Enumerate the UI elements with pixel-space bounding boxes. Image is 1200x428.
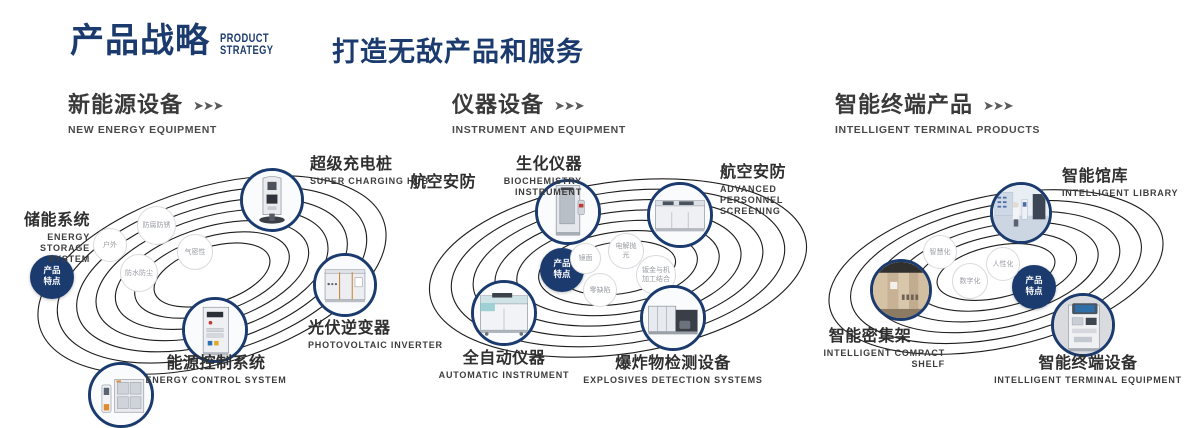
- page-subtitle: 打造无敌产品和服务: [332, 30, 584, 69]
- chevron-right-icon: ➤➤➤: [193, 98, 223, 114]
- node-intelligent-compact-shelf[interactable]: [870, 259, 932, 321]
- section-title-intelligent-terminal: 智能终端产品 ➤➤➤ INTELLIGENT TERMINAL PRODUCTS: [835, 95, 1040, 136]
- node-advanced-personnel-screening[interactable]: [647, 182, 713, 248]
- explosives-detection-image: [643, 288, 703, 348]
- feature-bubble: 户外: [93, 228, 127, 262]
- node-explosives-detection[interactable]: [640, 285, 706, 351]
- feature-bubble: 防腐防锈: [137, 206, 176, 245]
- node-automatic-instrument[interactable]: [471, 280, 537, 346]
- feature-bubble: 镜面: [570, 243, 601, 274]
- intelligent-terminal-equipment-image: [1054, 296, 1112, 354]
- feature-bubble: 人性化: [986, 247, 1020, 281]
- chevron-right-icon: ➤➤➤: [554, 98, 584, 114]
- page-title-en: PRODUCT STRATEGY: [220, 32, 273, 56]
- feature-bubble: 防水防尘: [120, 254, 158, 292]
- product-strategy-infographic: 产品战略 PRODUCT STRATEGY 打造无敌产品和服务 新能源设备 ➤➤…: [0, 0, 1200, 422]
- diagram-group-intelligent-terminal: 产品 特点 智慧化 数字化 人性化: [790, 150, 1200, 400]
- node-intelligent-library[interactable]: [990, 182, 1052, 244]
- caption-intelligent-library: 智能馆库 INTELLIGENT LIBRARY: [1062, 168, 1178, 199]
- section-title-en: INTELLIGENT TERMINAL PRODUCTS: [835, 124, 1040, 136]
- section-title-en: NEW ENERGY EQUIPMENT: [68, 124, 223, 136]
- section-title-cn: 新能源设备: [68, 95, 183, 117]
- caption-explosives-detection: 爆炸物检测设备 EXPLOSIVES DETECTION SYSTEMS: [583, 355, 763, 386]
- intelligent-library-image: [993, 185, 1049, 241]
- section-title-cn: 仪器设备: [452, 95, 544, 117]
- automatic-instrument-image: [474, 283, 534, 343]
- page-title-en-line2: STRATEGY: [220, 44, 273, 56]
- caption-intelligent-compact-shelf: 智能密集架 INTELLIGENT COMPACT SHELF: [780, 328, 960, 370]
- chevron-right-icon: ➤➤➤: [983, 98, 1013, 114]
- energy-control-system-image: [185, 300, 245, 360]
- node-super-charging-hub[interactable]: [240, 168, 304, 232]
- caption-energy-storage-system: 储能系统 ENERGY STORAGE SYSTEM: [0, 212, 90, 266]
- feature-bubble: 气密性: [177, 234, 213, 270]
- caption-intelligent-terminal-equipment: 智能终端设备 INTELLIGENT TERMINAL EQUIPMENT: [978, 355, 1198, 386]
- page-title-cn: 产品战略: [70, 24, 210, 58]
- feature-bubble: 零缺陷: [583, 273, 617, 307]
- photovoltaic-inverter-image: [316, 256, 374, 314]
- page-title: 产品战略 PRODUCT STRATEGY: [70, 24, 288, 58]
- diagram-group-new-energy: 产品 特点 户外 防腐防锈 防水防尘 气密性 储能系统 ENERGY S: [0, 150, 420, 400]
- caption-automatic-instrument: 全自动仪器 AUTOMATIC INSTRUMENT: [414, 350, 594, 381]
- section-title-en: INSTRUMENT AND EQUIPMENT: [452, 124, 626, 136]
- intelligent-compact-shelf-image: [873, 262, 929, 318]
- node-intelligent-terminal-equipment[interactable]: [1051, 293, 1115, 357]
- section-title-new-energy: 新能源设备 ➤➤➤ NEW ENERGY EQUIPMENT: [68, 95, 223, 136]
- diagram-group-instrument: 产品 特点 镜面 电解抛光 钣金与机加工结合 零缺陷 航空安防 生化仪器 BIO…: [400, 150, 820, 400]
- center-bubble-product-features: 产品 特点: [1012, 265, 1056, 309]
- advanced-personnel-screening-image: [650, 185, 710, 245]
- node-photovoltaic-inverter[interactable]: [313, 253, 377, 317]
- caption-energy-control-system: 能源控制系统 ENERGY CONTROL SYSTEM: [126, 355, 306, 386]
- section-title-cn: 智能终端产品: [835, 95, 973, 117]
- section-title-instrument: 仪器设备 ➤➤➤ INSTRUMENT AND EQUIPMENT: [452, 95, 626, 136]
- feature-bubble: 数字化: [952, 263, 988, 299]
- caption-biochemistry-instrument: 生化仪器 BIOCHEMISTRY INSTRUMENT: [442, 156, 582, 198]
- super-charging-hub-image: [243, 171, 301, 229]
